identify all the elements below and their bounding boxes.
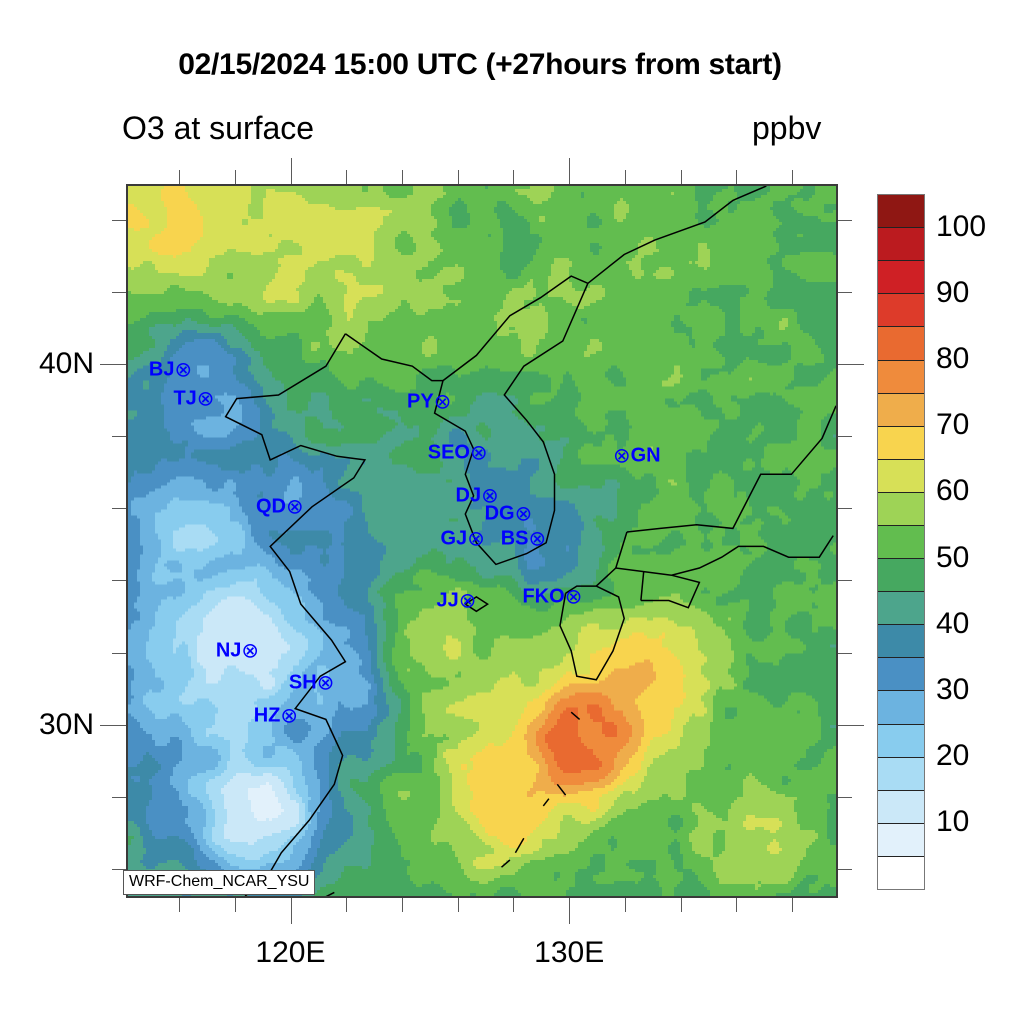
station-marker-py[interactable]: PY⊗ — [407, 392, 451, 413]
station-label: NJ — [216, 639, 242, 661]
station-circle-x-icon: ⊗ — [280, 705, 298, 726]
lon-tick-122 — [346, 898, 347, 912]
colorbar-band-85-90 — [878, 294, 924, 327]
colorbar-tick-20: 20 — [936, 739, 969, 773]
lon-tick-top-124 — [402, 170, 403, 184]
colorbar-tick-40: 40 — [936, 607, 969, 641]
colorbar-tick-50: 50 — [936, 541, 969, 575]
colorbar — [877, 194, 925, 890]
station-label: GN — [631, 445, 661, 467]
colorbar-band-15-20 — [878, 758, 924, 791]
station-label: BS — [501, 528, 529, 550]
colorbar-band-90-95 — [878, 261, 924, 294]
station-label: HZ — [254, 704, 281, 726]
colorbar-band-25-30 — [878, 691, 924, 724]
lat-tick-44 — [112, 220, 126, 221]
lon-tick-top-132 — [625, 170, 626, 184]
colorbar-tick-70: 70 — [936, 408, 969, 442]
station-marker-fko[interactable]: FKO⊗ — [522, 586, 582, 607]
station-circle-x-icon: ⊗ — [317, 673, 335, 694]
lon-tick-top-136 — [736, 170, 737, 184]
station-marker-bs[interactable]: BS⊗ — [501, 529, 546, 550]
station-circle-x-icon: ⊗ — [459, 590, 477, 611]
station-label: TJ — [173, 387, 196, 409]
lon-tick-138 — [792, 898, 793, 912]
station-marker-gj[interactable]: GJ⊗ — [441, 529, 485, 550]
station-label: DJ — [456, 484, 482, 506]
station-label: BJ — [149, 358, 175, 380]
station-circle-x-icon: ⊗ — [286, 496, 304, 517]
station-marker-seo[interactable]: SEO⊗ — [428, 442, 488, 463]
colorbar-band-5-10 — [878, 824, 924, 857]
station-circle-x-icon: ⊗ — [241, 640, 259, 661]
lat-axis-label-30n: 30N — [39, 708, 94, 742]
units-label: ppbv — [752, 110, 821, 147]
colorbar-tick-80: 80 — [936, 342, 969, 376]
station-marker-gn[interactable]: ⊗GN — [613, 446, 661, 467]
colorbar-tick-90: 90 — [936, 276, 969, 310]
station-circle-x-icon: ⊗ — [174, 359, 192, 380]
colorbar-band-0-5 — [878, 857, 924, 889]
station-circle-x-icon: ⊗ — [434, 392, 452, 413]
station-marker-nj[interactable]: NJ⊗ — [216, 640, 259, 661]
colorbar-band-35-40 — [878, 625, 924, 658]
lat-tick-right-30 — [838, 725, 864, 726]
station-circle-x-icon: ⊗ — [613, 446, 631, 467]
colorbar-band-70-75 — [878, 394, 924, 427]
lon-axis-label-120e: 120E — [255, 936, 325, 970]
station-circle-x-icon: ⊗ — [528, 529, 546, 550]
lon-tick-top-118 — [235, 170, 236, 184]
station-circle-x-icon: ⊗ — [467, 529, 485, 550]
lat-tick-32 — [112, 653, 126, 654]
lon-tick-top-128 — [513, 170, 514, 184]
station-label: SH — [289, 672, 317, 694]
lat-tick-36 — [112, 508, 126, 509]
lat-axis-label-40n: 40N — [39, 347, 94, 381]
lat-tick-right-38 — [838, 436, 852, 437]
lon-tick-top-126 — [458, 170, 459, 184]
colorbar-tick-60: 60 — [936, 474, 969, 508]
station-label: GJ — [441, 528, 468, 550]
colorbar-band-75-80 — [878, 361, 924, 394]
lat-tick-right-44 — [838, 220, 852, 221]
station-circle-x-icon: ⊗ — [565, 586, 583, 607]
station-marker-jj[interactable]: JJ⊗ — [437, 590, 477, 611]
lat-tick-30 — [100, 725, 126, 726]
station-marker-hz[interactable]: HZ⊗ — [254, 705, 298, 726]
lat-tick-right-40 — [838, 364, 864, 365]
lon-tick-120 — [291, 898, 292, 924]
station-circle-x-icon: ⊗ — [197, 388, 215, 409]
station-label: JJ — [437, 589, 459, 611]
colorbar-band-95-100 — [878, 228, 924, 261]
station-label: SEO — [428, 441, 470, 463]
lon-tick-116 — [179, 898, 180, 912]
lon-tick-top-120 — [291, 158, 292, 184]
lat-tick-right-36 — [838, 508, 852, 509]
lat-tick-right-34 — [838, 580, 852, 581]
station-circle-x-icon: ⊗ — [470, 442, 488, 463]
lon-tick-126 — [458, 898, 459, 912]
station-marker-qd[interactable]: QD⊗ — [256, 496, 304, 517]
colorbar-band-65-70 — [878, 427, 924, 460]
lon-tick-top-122 — [346, 170, 347, 184]
station-marker-dg[interactable]: DG⊗ — [485, 504, 533, 525]
lat-tick-right-26 — [838, 869, 852, 870]
station-marker-tj[interactable]: TJ⊗ — [173, 388, 214, 409]
lat-tick-40 — [100, 364, 126, 365]
lon-tick-top-130 — [569, 158, 570, 184]
colorbar-tick-10: 10 — [936, 805, 969, 839]
lon-tick-124 — [402, 898, 403, 912]
lat-tick-28 — [112, 797, 126, 798]
lon-tick-134 — [681, 898, 682, 912]
station-marker-layer: BJ⊗TJ⊗QD⊗NJ⊗SH⊗HZ⊗PY⊗SEO⊗DJ⊗DG⊗GJ⊗BS⊗JJ⊗… — [128, 186, 836, 896]
lon-tick-130 — [569, 898, 570, 924]
station-circle-x-icon: ⊗ — [515, 504, 533, 525]
colorbar-band-20-25 — [878, 725, 924, 758]
lat-tick-38 — [112, 436, 126, 437]
colorbar-band-55-60 — [878, 493, 924, 526]
colorbar-band-40-45 — [878, 592, 924, 625]
lon-axis-label-130e: 130E — [534, 936, 604, 970]
station-marker-bj[interactable]: BJ⊗ — [149, 359, 192, 380]
station-label: PY — [407, 391, 434, 413]
lon-tick-118 — [235, 898, 236, 912]
colorbar-band-30-35 — [878, 658, 924, 691]
model-tag: WRF-Chem_NCAR_YSU — [123, 870, 315, 895]
colorbar-band-60-65 — [878, 460, 924, 493]
station-marker-sh[interactable]: SH⊗ — [289, 673, 334, 694]
lat-tick-right-28 — [838, 797, 852, 798]
lat-tick-right-42 — [838, 292, 852, 293]
lon-tick-136 — [736, 898, 737, 912]
lon-tick-132 — [625, 898, 626, 912]
colorbar-band-50-55 — [878, 526, 924, 559]
page-title: 02/15/2024 15:00 UTC (+27hours from star… — [0, 48, 960, 82]
lat-tick-right-32 — [838, 653, 852, 654]
lon-tick-top-138 — [792, 170, 793, 184]
colorbar-band-45-50 — [878, 559, 924, 592]
station-label: DG — [485, 503, 515, 525]
colorbar-band-10-15 — [878, 791, 924, 824]
lat-tick-42 — [112, 292, 126, 293]
station-label: FKO — [522, 585, 564, 607]
colorbar-band-80-85 — [878, 327, 924, 360]
colorbar-band-100-105 — [878, 195, 924, 228]
lon-tick-top-116 — [179, 170, 180, 184]
lon-tick-128 — [513, 898, 514, 912]
station-label: QD — [256, 495, 286, 517]
lon-tick-top-134 — [681, 170, 682, 184]
field-label: O3 at surface — [122, 110, 314, 147]
map-plot-area: BJ⊗TJ⊗QD⊗NJ⊗SH⊗HZ⊗PY⊗SEO⊗DJ⊗DG⊗GJ⊗BS⊗JJ⊗… — [126, 184, 838, 898]
lat-tick-34 — [112, 580, 126, 581]
colorbar-tick-100: 100 — [936, 210, 986, 244]
colorbar-tick-30: 30 — [936, 673, 969, 707]
